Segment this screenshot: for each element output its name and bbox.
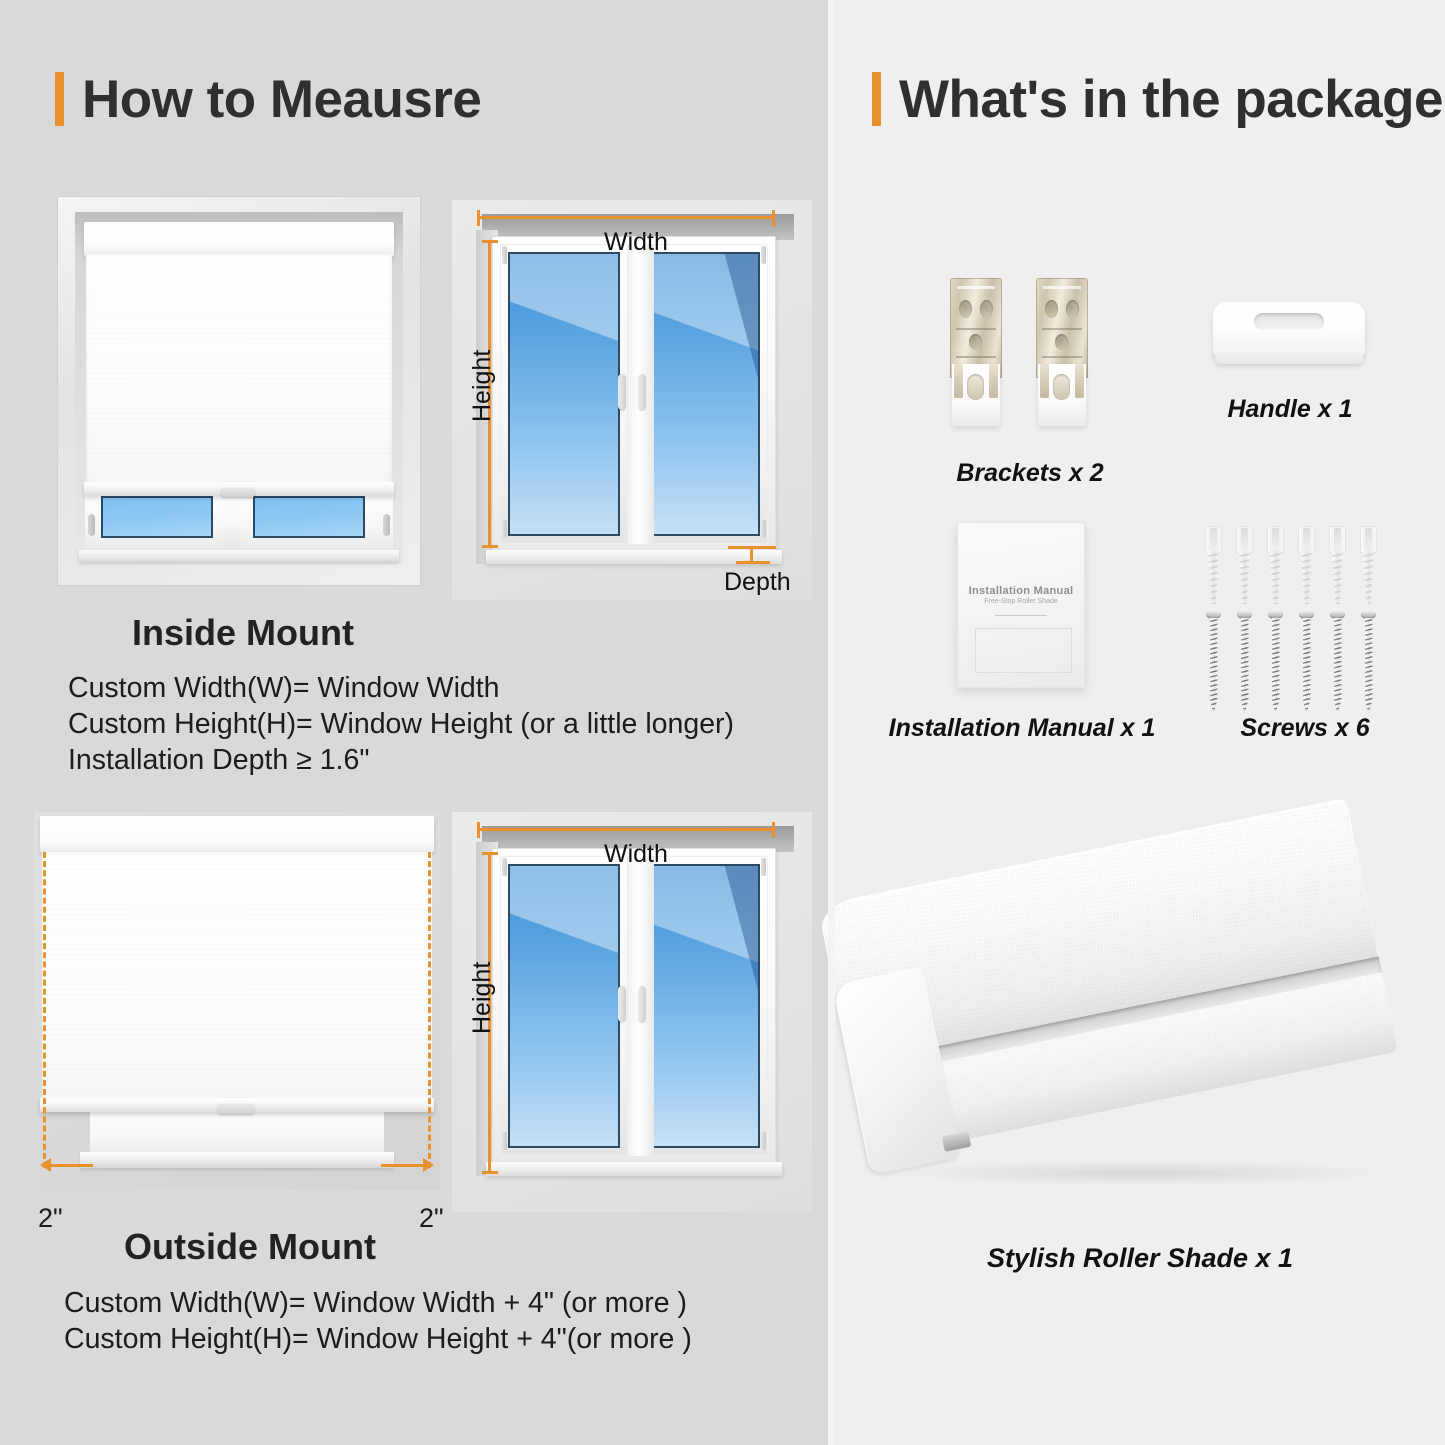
package-title: What's in the package <box>899 73 1443 126</box>
inside-mount-line-2: Custom Height(H)= Window Height (or a li… <box>68 706 734 742</box>
depth-label: Depth <box>724 568 791 597</box>
outside-mount-shade-illustration <box>34 812 440 1190</box>
width-label: Width <box>604 840 668 869</box>
screws-label: Screws x 6 <box>1185 714 1425 743</box>
infographic-root: How to Meausre Inside Mount Custom Width… <box>0 0 1445 1445</box>
outside-mount-line-1: Custom Width(W)= Window Width + 4" (or m… <box>64 1285 687 1321</box>
outside-mount-line-2: Custom Height(H)= Window Height + 4"(or … <box>64 1321 692 1357</box>
inside-mount-line-3: Installation Depth ≥ 1.6" <box>68 742 369 778</box>
inside-mount-window-diagram: Width Height Depth <box>452 200 812 600</box>
inside-mount-shade-illustration <box>57 196 421 586</box>
package-heading: What's in the package <box>872 72 1443 126</box>
outside-mount-title: Outside Mount <box>124 1226 376 1268</box>
brackets-label: Brackets x 2 <box>895 459 1165 488</box>
how-to-measure-panel: How to Meausre Inside Mount Custom Width… <box>0 0 835 1445</box>
manual-icon: Installation Manual Free-Stop Roller Sha… <box>957 522 1085 688</box>
inside-mount-line-1: Custom Width(W)= Window Width <box>68 670 500 706</box>
height-label: Height <box>468 962 497 1034</box>
panel-divider <box>828 0 835 1445</box>
outside-mount-window-diagram: Width Height <box>452 812 812 1212</box>
accent-bar-icon <box>872 72 881 126</box>
accent-bar-icon <box>55 72 64 126</box>
handle-label: Handle x 1 <box>1165 395 1415 424</box>
how-to-measure-title: How to Meausre <box>82 73 481 126</box>
bracket-icon <box>940 278 1120 438</box>
how-to-measure-heading: How to Meausre <box>55 72 481 126</box>
width-label: Width <box>604 228 668 257</box>
height-label: Height <box>468 350 497 422</box>
package-contents-panel: What's in the package <box>835 0 1445 1445</box>
manual-label: Installation Manual x 1 <box>877 714 1167 743</box>
manual-cover-subtitle: Free-Stop Roller Shade <box>957 598 1085 605</box>
inside-mount-title: Inside Mount <box>132 612 354 654</box>
overhang-right-label: 2" <box>419 1203 444 1234</box>
roller-shade-icon <box>871 900 1411 1170</box>
overhang-left-label: 2" <box>38 1203 63 1234</box>
handle-icon <box>1213 302 1365 370</box>
screw-icon <box>1205 526 1381 706</box>
roller-shade-label: Stylish Roller Shade x 1 <box>895 1243 1385 1274</box>
manual-cover-title: Installation Manual <box>957 585 1085 597</box>
